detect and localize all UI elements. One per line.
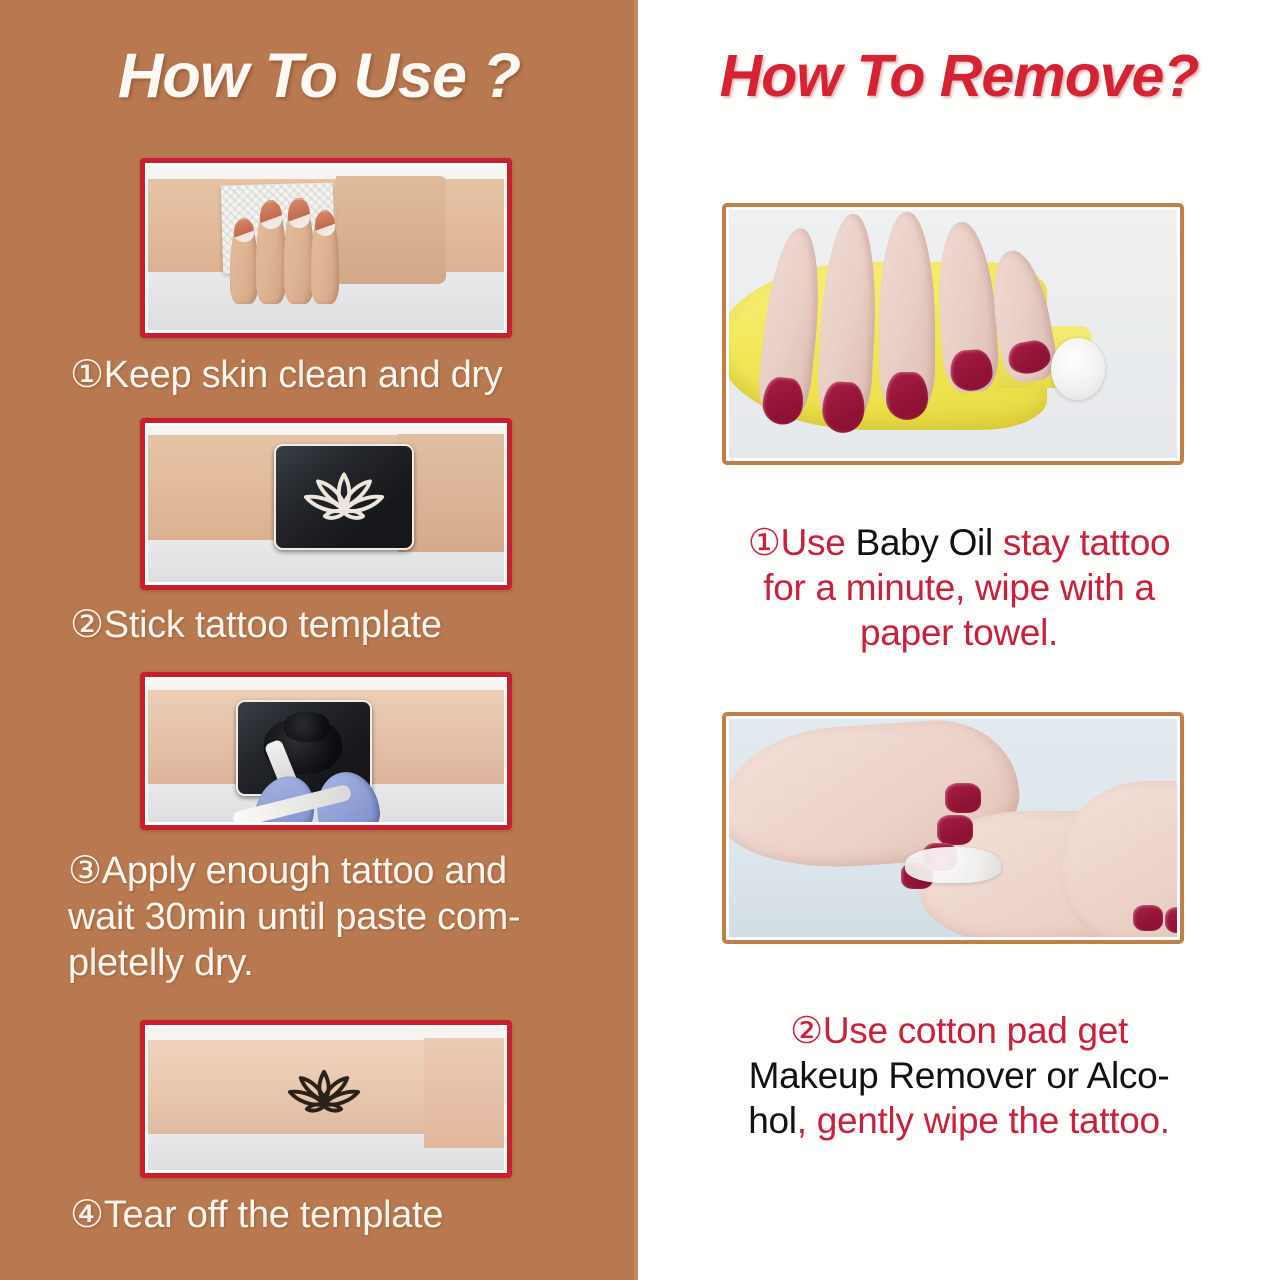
photo-canvas-remove1 [729,210,1177,458]
cotton-pad [905,847,1001,883]
remove-step-1-number: ① [748,522,781,563]
remove-step-1-line-3: paper towel. [860,612,1058,653]
how-to-use-title: How To Use ? [0,40,638,112]
fingernail-6 [1165,907,1177,933]
lotus-tattoo [276,1060,372,1124]
remove-step-2-line-3-black: hol [748,1100,796,1141]
fingernail-2 [937,815,973,845]
remove-step-1-red-a: Use [781,522,856,563]
step-1-number: ① [70,354,104,396]
infographic-page: How To Use ? ①Keep skin clean and dry [0,0,1280,1280]
fingernail-1 [945,783,981,813]
step-3-line-3: pletelly dry. [68,942,253,984]
how-to-remove-panel: How To Remove? ①Use Baby Oil stay tattoo… [638,0,1280,1280]
photo-finished-lotus-tattoo [140,1020,512,1178]
photo-backdrop-top [148,166,504,180]
finger-2 [256,200,286,304]
fingernail-5 [1133,905,1163,931]
photo-canvas-step2 [148,426,504,582]
thumbnail [1006,338,1052,376]
remove-step-1-caption: ①Use Baby Oil stay tattoo for a minute, … [659,520,1259,655]
step-2-text: Stick tattoo template [104,604,442,646]
photo-wipe-wrist-cotton-pad [722,712,1184,944]
fingernail-3 [288,200,310,228]
finger-1 [230,218,258,304]
photo-canvas-step1 [148,166,504,330]
lotus-icon [292,461,396,533]
step-3-line-2: wait 30min until paste com- [68,896,520,938]
fingernail-2 [260,202,282,229]
fingernail-4 [315,212,335,236]
photo-baby-oil-bottle-cotton [722,203,1184,465]
remove-step-2-line-2: Makeup Remover or Alco- [749,1055,1170,1096]
fingernail-4 [949,348,994,392]
step-3-number: ③ [68,850,102,892]
step-1-text: Keep skin clean and dry [104,354,503,396]
arm-upper [424,1038,504,1148]
applied-paste-2 [284,712,330,742]
lotus-stencil-cutout [276,446,412,548]
how-to-use-panel: How To Use ? ①Keep skin clean and dry [0,0,638,1280]
photo-canvas-step4 [148,1028,504,1170]
remove-step-2-number: ② [790,1010,823,1051]
photo-canvas-step3 [148,680,504,822]
step-3-line-1: Apply enough tattoo and [102,850,507,892]
remove-step-1-black: Baby Oil [855,522,992,563]
step-2-caption: ②Stick tattoo template [70,602,610,648]
remove-step-2-line-3-red: , gently wipe the tattoo. [797,1100,1170,1141]
step-1-caption: ①Keep skin clean and dry [70,352,610,398]
remove-step-2-caption: ②Use cotton pad get Makeup Remover or Al… [659,1008,1259,1143]
photo-stick-lotus-stencil [140,418,512,590]
photo-canvas-remove2 [729,719,1177,937]
remove-step-1-red-b: stay tattoo [993,522,1170,563]
tattoo-stencil [274,444,414,550]
fingernail-3 [886,372,929,420]
cotton-ball [1051,338,1105,400]
photo-clean-skin-with-wipe [140,158,512,338]
finger-3 [284,198,314,304]
step-4-number: ④ [70,1194,104,1236]
step-2-number: ② [70,604,104,646]
remove-step-2-line-1: Use cotton pad get [823,1010,1128,1051]
step-4-caption: ④Tear off the template [70,1192,610,1238]
finger-4 [311,210,339,304]
how-to-remove-title: How To Remove? [638,42,1280,110]
photo-apply-tattoo-paste [140,672,512,830]
lotus-icon [276,1061,372,1123]
finger-3 [879,212,935,414]
arm-upper [336,176,446,284]
step-4-text: Tear off the template [104,1194,443,1236]
fingernail-1 [234,220,254,242]
step-3-caption: ③Apply enough tattoo and wait 30min unti… [68,848,624,986]
remove-step-1-line-2: for a minute, wipe with a [763,567,1154,608]
